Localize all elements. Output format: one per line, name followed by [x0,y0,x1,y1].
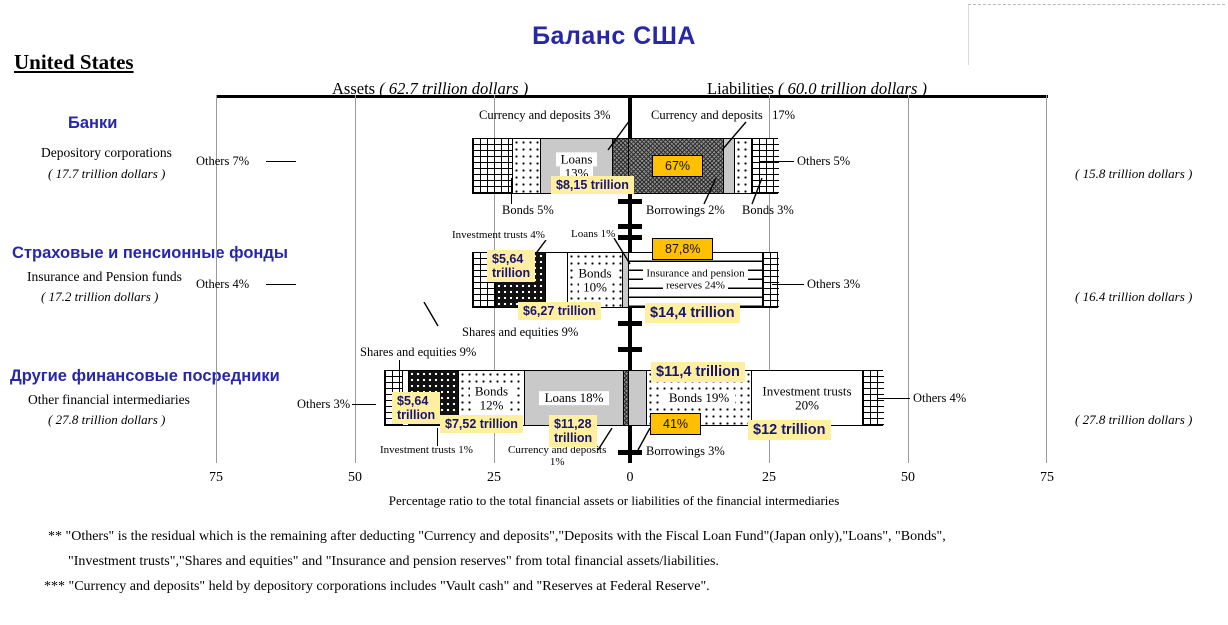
highlight-ofi-1128: $11,28trillion [549,415,597,447]
highlight-insurance-627: $6,27 trillion [518,302,601,320]
leader-r1-borrowings [700,178,724,206]
leader-r1-bonds-assets [511,178,512,204]
callout-r3-shares-assets: Shares and equities 9% [360,345,476,360]
axis-tick-r50: 50 [901,470,915,486]
axis-tick-0: 0 [627,470,634,486]
callout-r2-loans-assets: Loans 1% [571,228,615,240]
callout-r1-others-liab: Others 5% [797,154,850,169]
callout-r1-borrowings-liab: Borrowings 2% [646,203,725,218]
segment-others [473,139,512,193]
footnote-3: *** "Currency and deposits" held by depo… [44,579,710,595]
highlight-insurance-564: $5,64trillion [487,250,535,282]
leader-r1-others-liab [760,161,794,162]
row-total-right-insurance: ( 16.4 trillion dollars ) [1075,289,1192,305]
row-total-right-banks: ( 15.8 trillion dollars ) [1075,166,1192,182]
highlight-insurance-144: $14,4 trillion [645,303,740,323]
callout-r3-currency-assets: Currency and deposits1% [508,444,606,468]
leader-r1-others-assets [266,161,296,162]
highlight-ofi-752: $7,52 trillion [440,415,523,433]
page-title-en: United States [14,50,134,75]
badge-ofi-41: 41% [650,413,701,435]
leader-r2-loans [612,238,638,266]
axis-title: Percentage ratio to the total financial … [0,493,1228,509]
leader-r1-currency-liab [712,120,752,152]
plot-top-border [216,95,1048,98]
segment-borrowings [629,371,646,425]
callout-r2-shares-assets: Shares and equities 9% [462,325,578,340]
footnote-1: ** "Others" is the residual which is the… [48,529,946,545]
highlight-ofi-114: $11,4 trillion [651,362,745,382]
row-total-right-ofi: ( 27.8 trillion dollars ) [1075,412,1192,428]
highlight-ofi-12: $12 trillion [748,420,831,440]
row-label-insurance-en: Insurance and Pension funds [27,269,182,285]
badge-insurance-878: 87,8% [652,238,713,260]
segment-investment-trusts: Investment trusts20% [751,371,862,425]
axis-tick-l75: 75 [209,470,223,486]
callout-r1-bonds-assets: Bonds 5% [502,203,554,218]
gridline-left-50 [355,95,356,463]
leader-r3-others-liab [878,398,910,399]
leader-r3-shares [399,360,400,380]
blog-badge[interactable]: Блог пользователя Chessplayer Дайджест р… [968,4,1225,65]
callout-r3-others-liab: Others 4% [913,391,966,406]
gridline-right-50 [908,95,909,463]
segment-others [762,253,779,307]
row-total-banks: ( 17.7 trillion dollars ) [48,166,165,182]
row-label-banks-ru: Банки [68,114,117,133]
highlight-banks-815: $8,15 trillion [551,176,634,194]
leader-r2-others-assets [266,284,296,285]
callout-r1-currency-liab: Currency and deposits 17% [651,108,795,123]
axis-tick-r25: 25 [762,470,776,486]
row-total-ofi: ( 27.8 trillion dollars ) [48,412,165,428]
callout-r3-invtrusts-assets: Investment trusts 1% [380,444,473,456]
segment-loans-label: Loans 18% [525,391,623,405]
leader-r2-others-liab [772,284,804,285]
axis-cap-bot-2 [618,321,642,326]
callout-r3-others-assets: Others 3% [297,397,350,412]
segment-bonds [512,139,540,193]
highlight-ofi-564: $5,64trillion [392,392,440,424]
row-label-banks-en: Depository corporations [41,145,172,161]
segment-bonds-label: Bonds 10% [568,266,622,293]
segment-bonds-label: Bonds 12% [459,384,524,411]
leader-r1-bonds-liab [744,178,768,206]
axis-tick-l50: 50 [348,470,362,486]
segment-investment-trusts-label: Investment trusts20% [752,384,862,411]
row-total-insurance: ( 17.2 trillion dollars ) [41,289,158,305]
axis-cap-top-1 [618,199,642,204]
bar-insurance-liabilities[interactable]: Insurance and pension reserves 24% [628,252,778,308]
axis-cap-bot-1 [618,224,642,229]
callout-r2-invtrusts-assets: Investment trusts 4% [452,229,545,241]
leader-r1-currency-assets [600,120,640,152]
leader-r3-others-assets [352,404,376,405]
badge-banks-67: 67% [652,155,703,177]
callout-r3-borrowings-liab: Borrowings 3% [646,444,725,459]
footnote-2: "Investment trusts","Shares and equities… [68,554,719,570]
callout-r1-bonds-liab: Bonds 3% [742,203,794,218]
axis-cap-top-3 [618,347,642,352]
gridline-right-75 [1046,95,1047,463]
axis-tick-r75: 75 [1040,470,1054,486]
segment-reserves-label: Insurance and pension reserves 24% [629,268,762,291]
callout-r2-others-liab: Others 3% [807,277,860,292]
callout-r1-currency-assets: Currency and deposits 3% [479,108,611,123]
row-label-ofi-en: Other financial intermediaries [28,392,190,408]
leader-r2-shares [420,302,450,328]
callout-r1-others-assets: Others 7% [196,154,249,169]
callout-r2-others-assets: Others 4% [196,277,249,292]
axis-tick-l25: 25 [487,470,501,486]
segment-insurance-pension-reserves: Insurance and pension reserves 24% [629,253,762,307]
segment-bonds-label: Bonds 19% [647,391,751,405]
